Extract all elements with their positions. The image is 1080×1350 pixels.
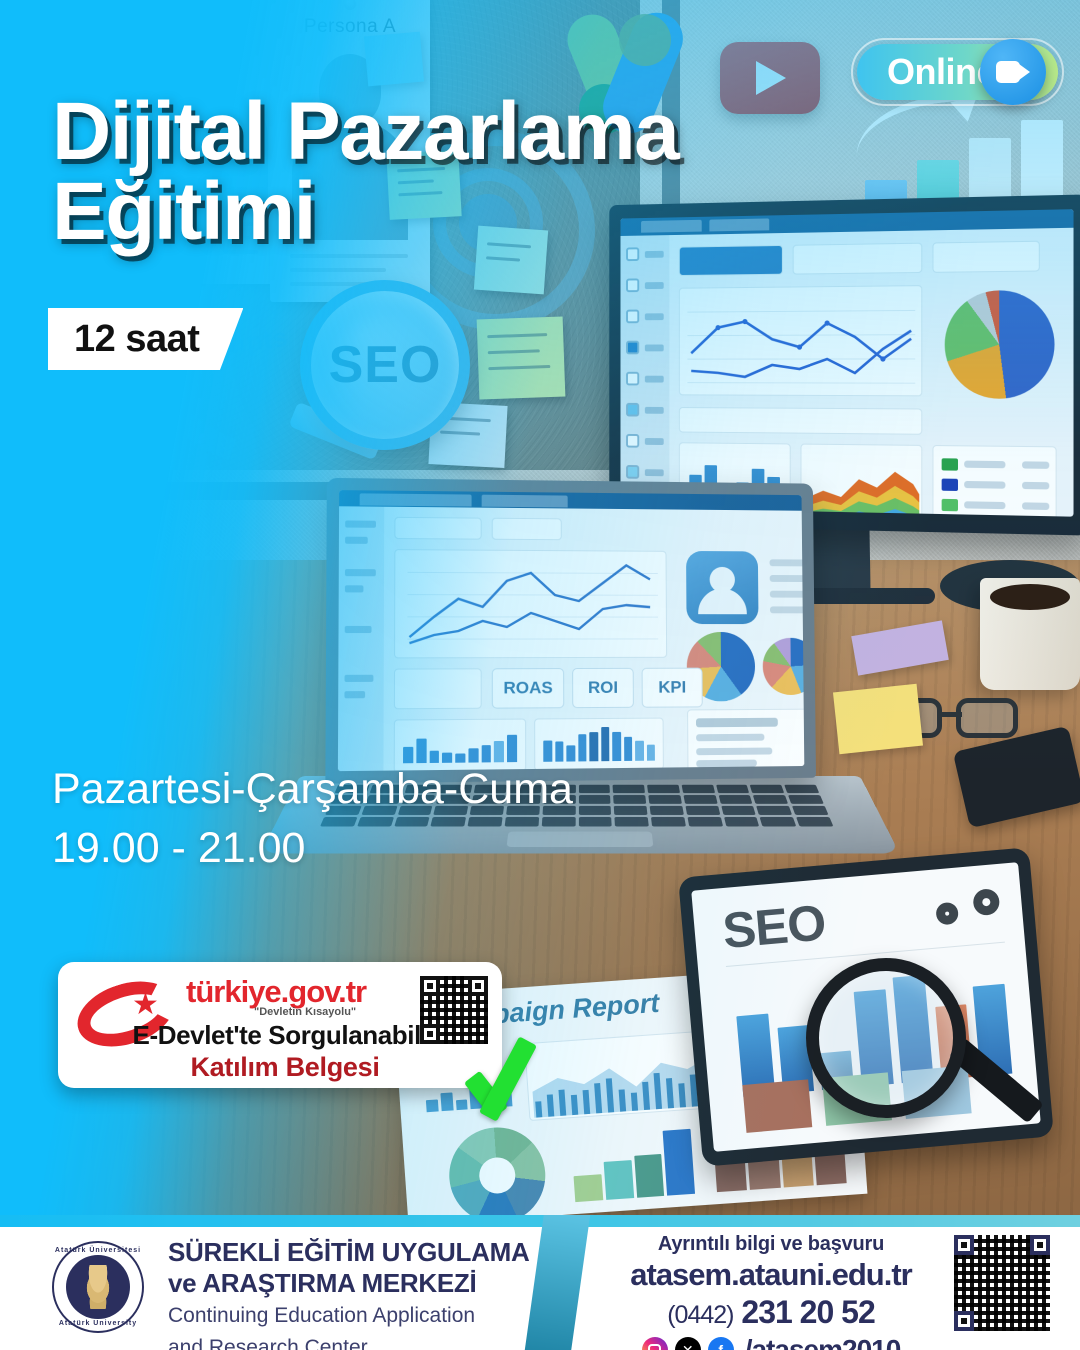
- title-line-2: Eğitimi: [52, 172, 812, 252]
- footer-bar: Atatürk Üniversitesi Atatürk University …: [0, 1215, 1080, 1350]
- schedule-block: Pazartesi-Çarşamba-Cuma 19.00 - 21.00: [52, 760, 573, 879]
- x-twitter-icon[interactable]: ✕: [675, 1337, 701, 1350]
- footer-top-band: [0, 1215, 1080, 1227]
- contact-block: Ayrıntılı bilgi ve başvuru atasem.atauni…: [606, 1233, 936, 1350]
- seal-inner: [66, 1255, 130, 1319]
- schedule-days: Pazartesi-Çarşamba-Cuma: [52, 760, 573, 819]
- phone-area-code: (0442): [667, 1301, 733, 1329]
- org-en-line-1: Continuing Education Application: [168, 1303, 529, 1329]
- org-en-line-2: and Research Center: [168, 1335, 529, 1350]
- green-checkmark-icon: [468, 1032, 554, 1118]
- duration-badge-label: 12 saat: [74, 318, 199, 361]
- edevlet-certificate-card: ★ türkiye.gov.tr "Devletin Kısayolu" E-D…: [58, 962, 502, 1088]
- duration-badge: 12 saat: [48, 308, 243, 370]
- edevlet-line-2: E-Devlet'te Sorgulanabilir: [132, 1020, 438, 1051]
- facebook-icon[interactable]: f: [708, 1337, 734, 1350]
- title-line-1: Dijital Pazarlama: [52, 86, 678, 177]
- contact-website[interactable]: atasem.atauni.edu.tr: [606, 1257, 936, 1293]
- social-handle: /atasem2010: [745, 1334, 901, 1350]
- page-title: Dijital Pazarlama Eğitimi: [52, 92, 812, 253]
- edevlet-line-3: Katılım Belgesi: [132, 1052, 438, 1083]
- seal-emblem-icon: [81, 1265, 115, 1309]
- ataturk-university-seal-logo: Atatürk Üniversitesi Atatürk University: [52, 1241, 144, 1333]
- poster: Targets or Attempts Persona A: [0, 0, 1080, 1350]
- organization-name: SÜREKLİ EĞİTİM UYGULAMA ve ARAŞTIRMA MER…: [168, 1237, 529, 1350]
- online-badge: Online: [857, 40, 1058, 104]
- instagram-icon[interactable]: [642, 1337, 668, 1350]
- edevlet-tagline: "Devletin Kısayolu": [254, 1006, 356, 1018]
- star-icon: ★: [132, 990, 159, 1020]
- org-line-1: SÜREKLİ EĞİTİM UYGULAMA: [168, 1237, 529, 1268]
- org-line-2: ve ARAŞTIRMA MERKEZİ: [168, 1268, 529, 1299]
- footer-qr-code: [954, 1235, 1050, 1331]
- seal-top-text: Atatürk Üniversitesi: [54, 1247, 142, 1254]
- seal-bottom-text: Atatürk University: [54, 1320, 142, 1327]
- edevlet-brand: türkiye.gov.tr: [186, 974, 366, 1010]
- footer-diagonal-stripe: [522, 1215, 591, 1350]
- social-links: ✕ f /atasem2010: [606, 1334, 936, 1350]
- contact-heading: Ayrıntılı bilgi ve başvuru: [606, 1233, 936, 1256]
- schedule-time: 19.00 - 21.00: [52, 819, 573, 878]
- contact-phone[interactable]: (0442) 231 20 52: [606, 1294, 936, 1331]
- phone-number: 231 20 52: [741, 1294, 874, 1330]
- video-camera-icon: [980, 39, 1046, 105]
